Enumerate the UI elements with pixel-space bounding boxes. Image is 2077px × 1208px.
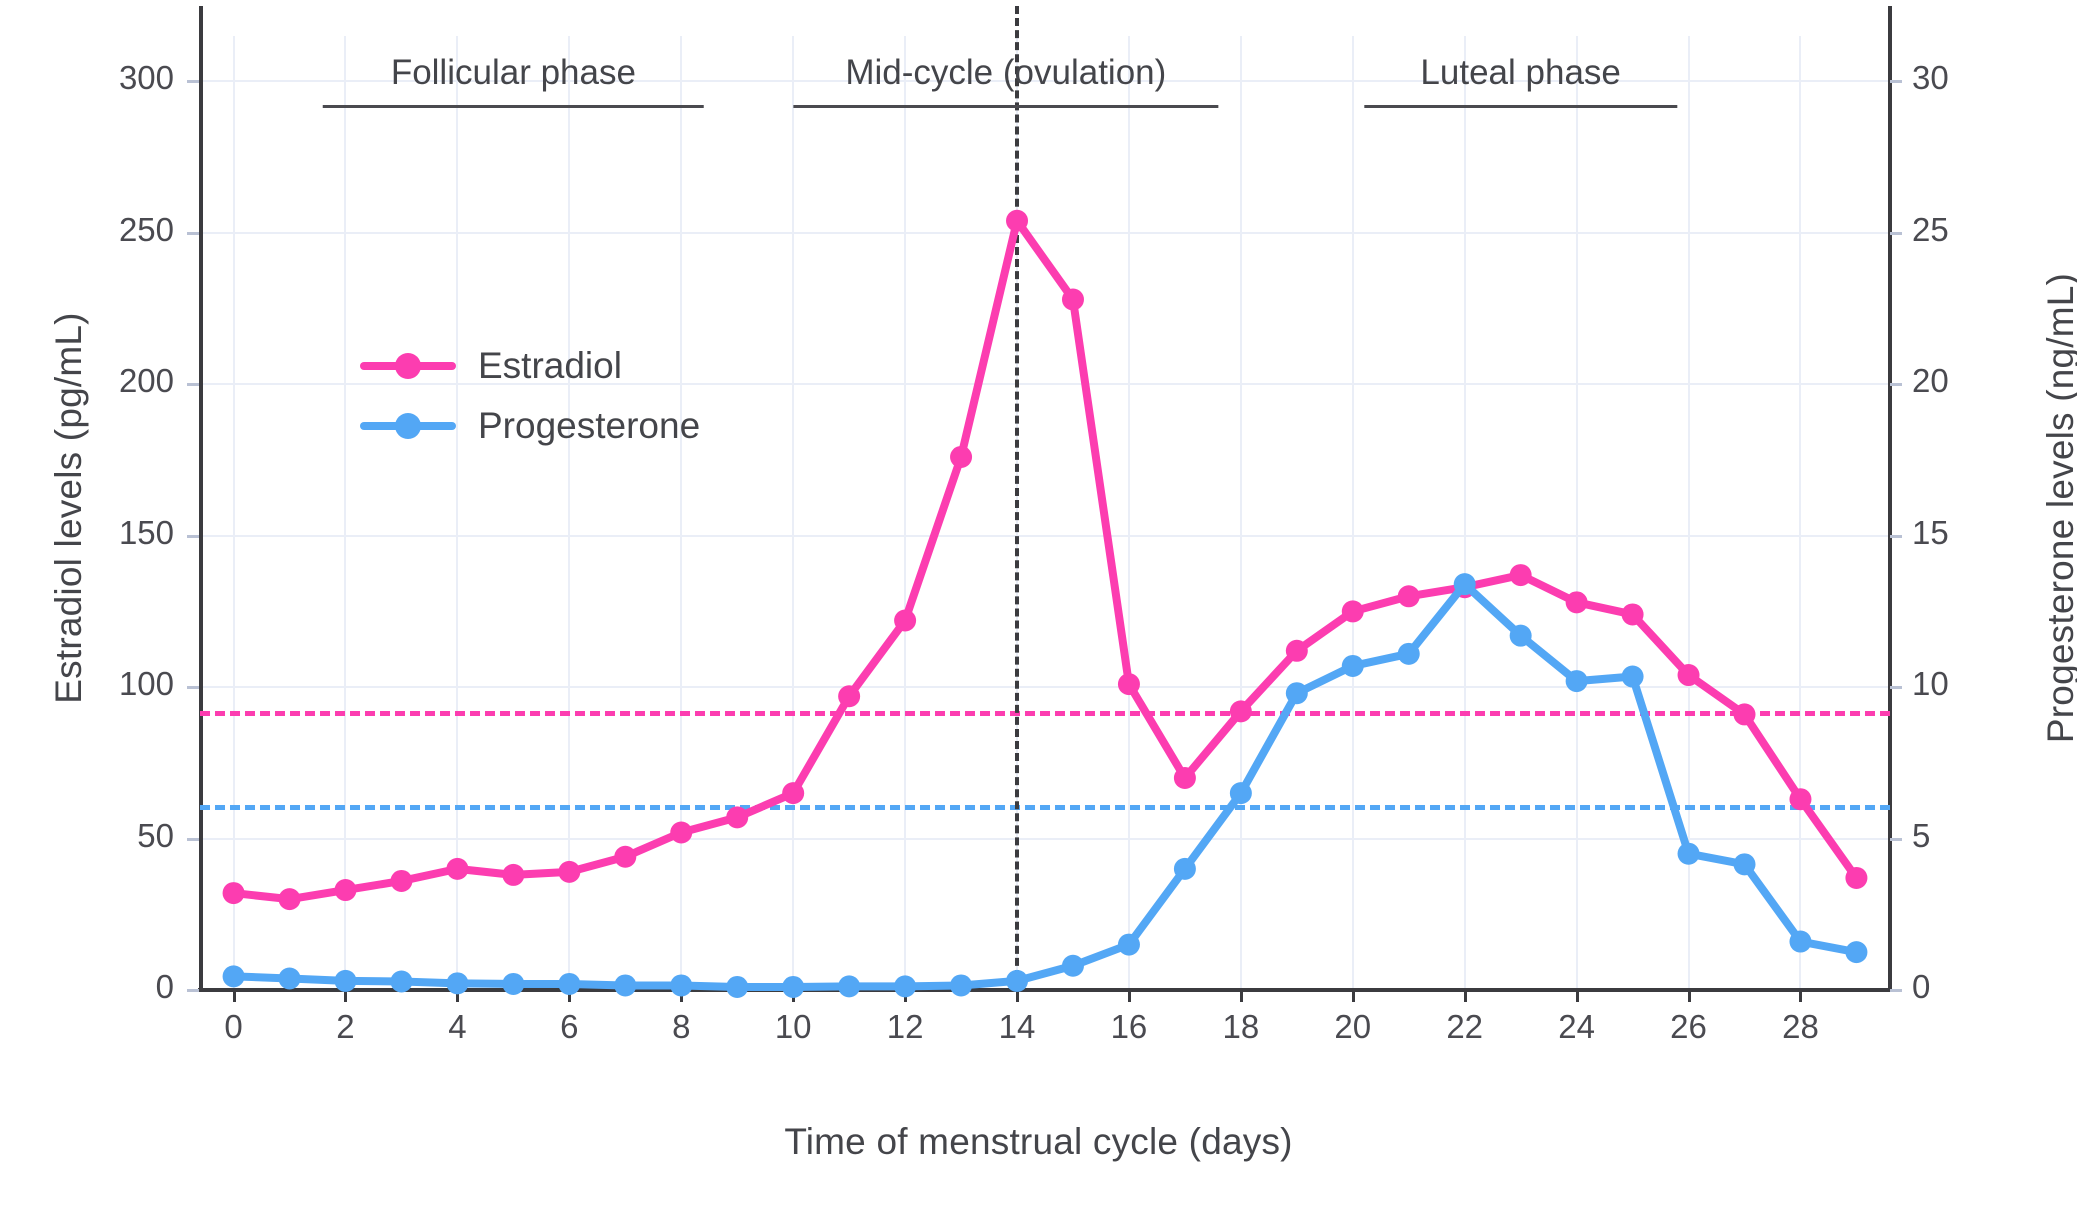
y-axis-right-tick [1890,686,1902,689]
y-axis-right-tick-label: 15 [1912,514,2052,552]
y-axis-left-tick-label: 200 [34,362,174,400]
series-line-progesterone [234,584,1857,987]
y-axis-left-tick-label: 50 [34,817,174,855]
data-point-progesterone[interactable] [1566,670,1588,692]
y-axis-left-tick [187,383,199,386]
y-axis-right-tick [1890,232,1902,235]
y-axis-left-tick [187,838,199,841]
y-axis-right-tick [1890,80,1902,83]
x-axis-tick [1464,988,1467,1002]
data-point-estradiol[interactable] [838,685,860,707]
data-point-progesterone[interactable] [446,972,468,994]
chart-legend: Estradiol Progesterone [360,336,700,456]
data-point-progesterone[interactable] [502,973,524,995]
data-point-estradiol[interactable] [614,846,636,868]
y-axis-right-tick [1890,535,1902,538]
data-point-progesterone[interactable] [1510,625,1532,647]
data-point-progesterone[interactable] [1678,843,1700,865]
data-point-progesterone[interactable] [1342,655,1364,677]
data-point-progesterone[interactable] [1006,970,1028,992]
x-axis-tick-label: 28 [1730,1008,1870,1046]
y-axis-left-tick [187,989,199,992]
data-point-progesterone[interactable] [950,974,972,996]
data-point-progesterone[interactable] [1062,955,1084,977]
x-axis-tick [1576,988,1579,1002]
data-point-progesterone[interactable] [390,971,412,993]
data-point-progesterone[interactable] [1789,931,1811,953]
y-axis-left-tick-label: 100 [34,665,174,703]
data-point-estradiol[interactable] [1510,564,1532,586]
data-point-progesterone[interactable] [1286,682,1308,704]
data-point-progesterone[interactable] [334,970,356,992]
data-point-progesterone[interactable] [279,967,301,989]
y-axis-right-tick [1890,989,1902,992]
series-line-estradiol [234,221,1857,899]
x-axis-tick [1240,988,1243,1002]
data-point-estradiol[interactable] [279,888,301,910]
data-point-progesterone[interactable] [223,965,245,987]
data-point-estradiol[interactable] [334,879,356,901]
data-point-estradiol[interactable] [390,870,412,892]
y-axis-right-tick [1890,838,1902,841]
data-point-estradiol[interactable] [894,610,916,632]
x-axis-tick [233,988,236,1002]
data-point-estradiol[interactable] [782,782,804,804]
data-point-progesterone[interactable] [558,973,580,995]
estradiol-legend-swatch [360,362,456,370]
data-point-progesterone[interactable] [726,976,748,998]
data-point-estradiol[interactable] [1845,867,1867,889]
y-axis-left-tick [187,232,199,235]
data-point-progesterone[interactable] [1174,858,1196,880]
data-point-progesterone[interactable] [1118,934,1140,956]
data-point-progesterone[interactable] [1622,666,1644,688]
data-point-estradiol[interactable] [223,882,245,904]
y-axis-left-tick [187,80,199,83]
data-point-estradiol[interactable] [1398,585,1420,607]
y-axis-right-tick-label: 25 [1912,211,2052,249]
data-point-estradiol[interactable] [1062,288,1084,310]
x-axis-title: Time of menstrual cycle (days) [0,1121,2077,1163]
y-axis-right-title: Progesterone levels (ng/mL) [2040,8,2077,1008]
data-point-estradiol[interactable] [1678,664,1700,686]
y-axis-left-tick-label: 300 [34,59,174,97]
y-axis-left-tick-label: 0 [34,968,174,1006]
y-axis-right-tick-label: 30 [1912,59,2052,97]
hormone-cycle-chart: Estradiol levels (pg/mL) Progesterone le… [0,0,2077,1208]
data-point-estradiol[interactable] [726,806,748,828]
data-point-progesterone[interactable] [1398,643,1420,665]
y-axis-left-tick [187,686,199,689]
data-point-estradiol[interactable] [1566,591,1588,613]
x-axis-tick [1128,988,1131,1002]
data-point-estradiol[interactable] [1622,603,1644,625]
series-layer [200,36,1890,990]
y-axis-left-tick-label: 150 [34,514,174,552]
data-point-estradiol[interactable] [1286,640,1308,662]
y-axis-right-tick-label: 5 [1912,817,2052,855]
data-point-progesterone[interactable] [1734,853,1756,875]
data-point-estradiol[interactable] [1230,700,1252,722]
data-point-estradiol[interactable] [950,446,972,468]
data-point-estradiol[interactable] [1789,788,1811,810]
data-point-estradiol[interactable] [1006,210,1028,232]
y-axis-left-title: Estradiol levels (pg/mL) [48,8,90,1008]
data-point-progesterone[interactable] [614,974,636,996]
data-point-progesterone[interactable] [670,974,692,996]
y-axis-right-tick-label: 20 [1912,362,2052,400]
x-axis-tick [1352,988,1355,1002]
data-point-estradiol[interactable] [502,864,524,886]
y-axis-right-tick [1890,383,1902,386]
data-point-estradiol[interactable] [1174,767,1196,789]
legend-item-label: Estradiol [478,345,622,387]
data-point-progesterone[interactable] [894,975,916,997]
data-point-estradiol[interactable] [1118,673,1140,695]
data-point-progesterone[interactable] [838,975,860,997]
plot-area: 050100150200250300 051015202530 02468101… [200,36,1890,990]
data-point-progesterone[interactable] [1845,941,1867,963]
y-axis-left-tick [187,535,199,538]
data-point-estradiol[interactable] [446,858,468,880]
data-point-progesterone[interactable] [782,976,804,998]
data-point-estradiol[interactable] [670,822,692,844]
data-point-estradiol[interactable] [558,861,580,883]
legend-item-estradiol[interactable]: Estradiol [360,336,700,396]
data-point-estradiol[interactable] [1734,703,1756,725]
y-axis-left-tick-label: 250 [34,211,174,249]
data-point-estradiol[interactable] [1342,600,1364,622]
progesterone-legend-swatch [360,422,456,430]
y-axis-right-tick-label: 10 [1912,665,2052,703]
data-point-progesterone[interactable] [1230,782,1252,804]
y-axis-right-tick-label: 0 [1912,968,2052,1006]
legend-item-label: Progesterone [478,405,700,447]
x-axis-tick [1799,988,1802,1002]
legend-item-progesterone[interactable]: Progesterone [360,396,700,456]
data-point-progesterone[interactable] [1454,573,1476,595]
x-axis-tick [1688,988,1691,1002]
